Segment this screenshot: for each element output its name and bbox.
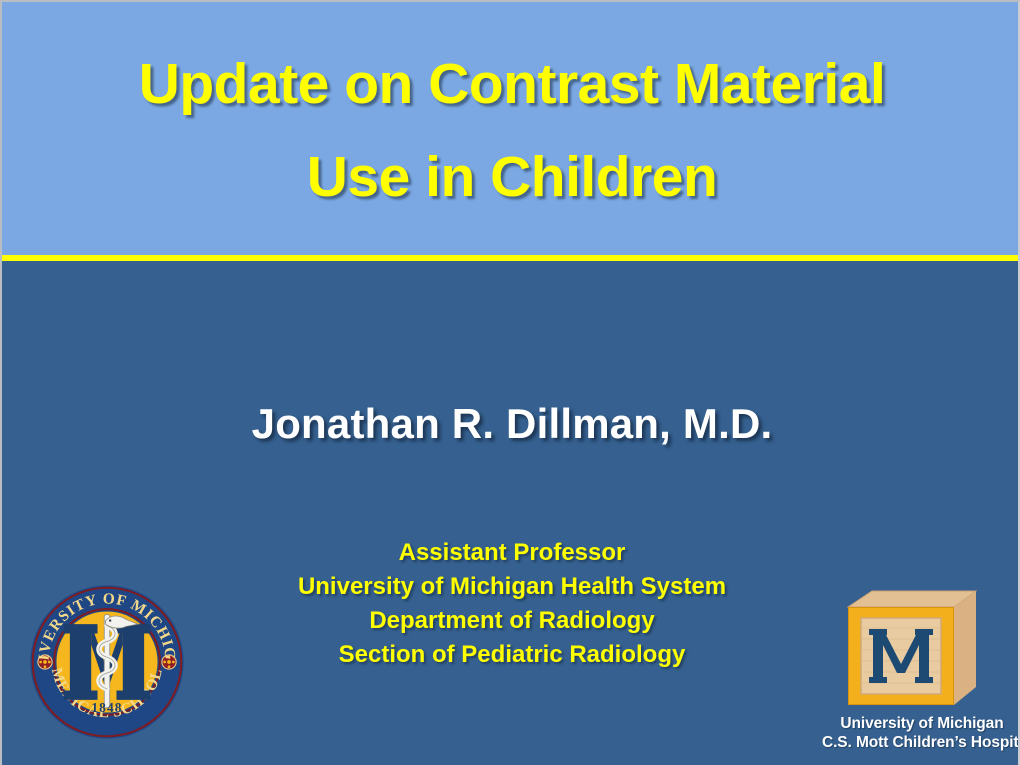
presenter-name: Jonathan R. Dillman, M.D. xyxy=(12,400,1012,448)
affiliation-line-1: Assistant Professor xyxy=(12,536,1012,570)
wooden-block-m-icon xyxy=(842,587,982,711)
presentation-title-slide: Update on Contrast Material Use in Child… xyxy=(0,0,1020,765)
title-divider-rule xyxy=(2,255,1020,261)
mott-logo-line-2: C.S. Mott Children’s Hospital xyxy=(822,733,1020,752)
mott-logo-line-1: University of Michigan xyxy=(822,714,1020,733)
slide-title: Update on Contrast Material Use in Child… xyxy=(22,38,1002,224)
mott-childrens-hospital-logo: University of Michigan C.S. Mott Childre… xyxy=(822,587,1020,765)
seal-founding-year: 1848 xyxy=(91,700,122,715)
mott-logo-text: University of Michigan C.S. Mott Childre… xyxy=(822,714,1020,752)
um-medical-school-seal: UNIVERSITY OF MICHIGAN MEDICAL SCHOOL 18… xyxy=(28,583,186,741)
